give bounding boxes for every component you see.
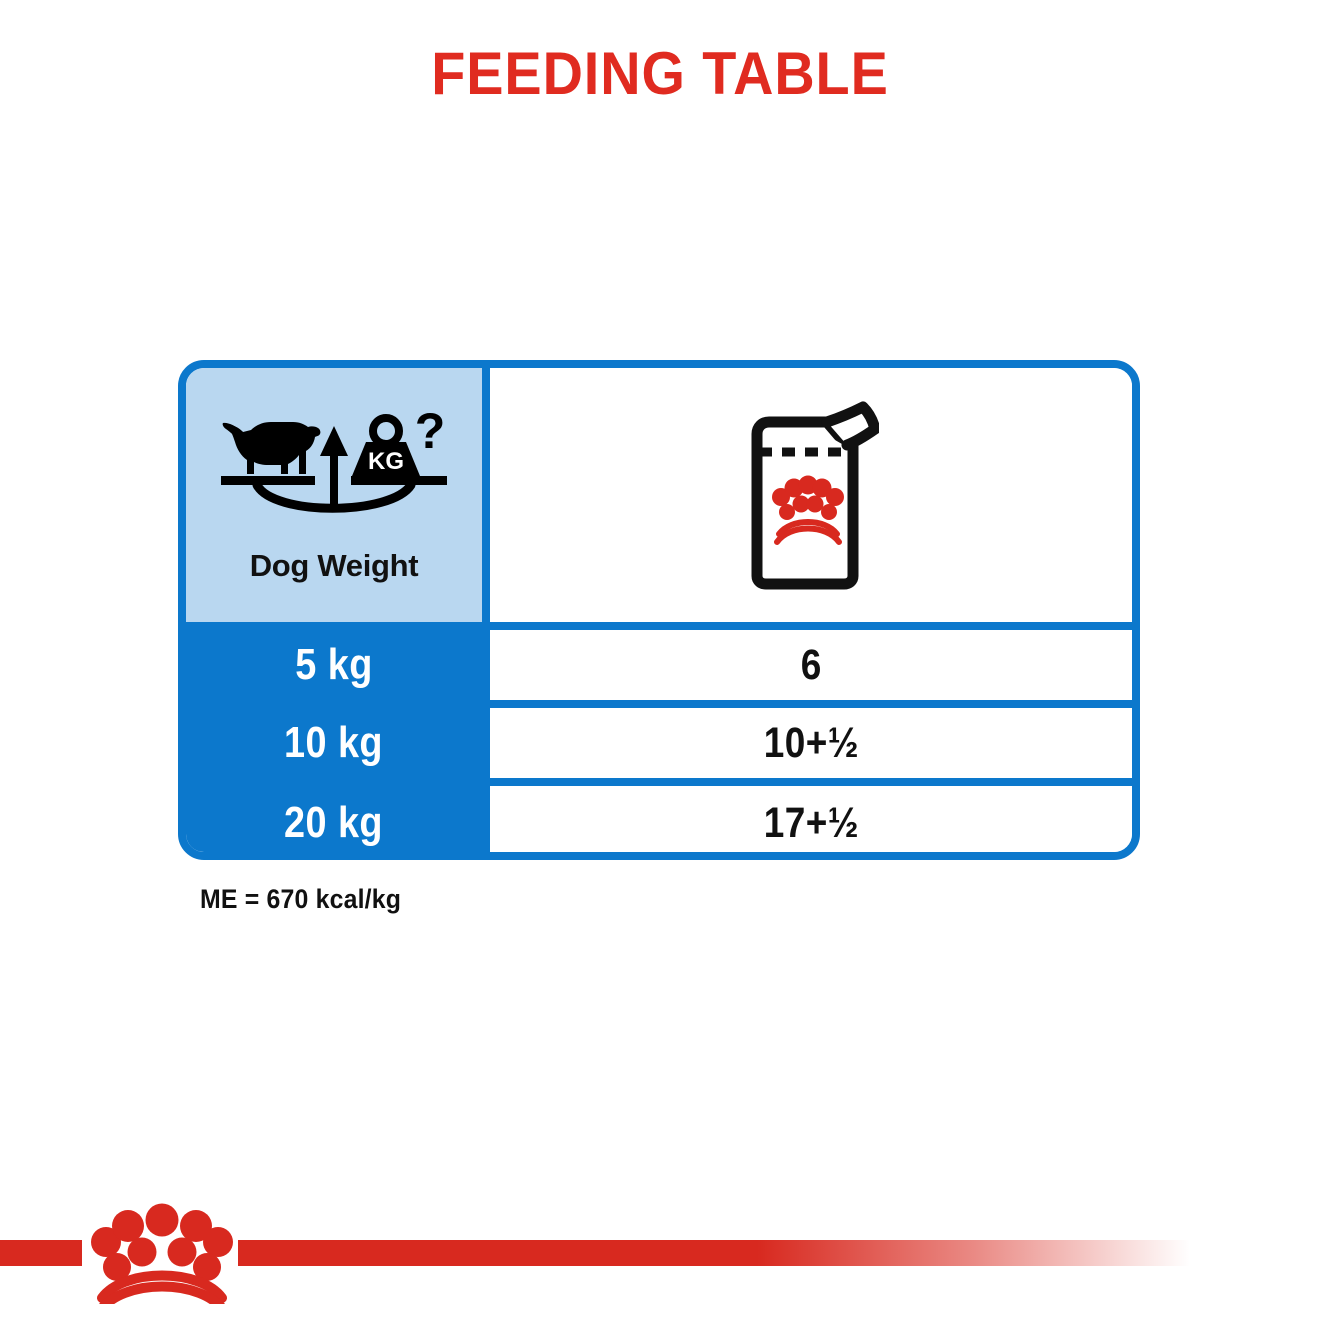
row-weight-label: 10 kg: [285, 721, 384, 765]
row-weight-label: 20 kg: [285, 801, 384, 845]
brand-footer: [0, 1240, 1320, 1266]
row-weight-cell: 5 kg: [186, 630, 482, 700]
row-amount-cell: 17+½: [482, 786, 1132, 860]
brand-bar-right: [238, 1240, 1320, 1266]
table-row: 10 kg 10+½: [186, 700, 1132, 778]
wet-food-pouch-icon: [743, 400, 879, 590]
table-row: 5 kg 6: [186, 622, 1132, 700]
header-cell-dog-weight: KG ? Dog Weight: [186, 368, 482, 622]
royal-canin-crown-logo: [88, 1198, 236, 1304]
row-amount-label: 6: [800, 644, 821, 687]
row-weight-label: 5 kg: [295, 643, 372, 687]
row-weight-cell: 20 kg: [186, 786, 482, 860]
brand-bar-left: [0, 1240, 82, 1266]
metabolisable-energy-note: ME = 670 kcal/kg: [200, 884, 401, 915]
feeding-table-wrapper: KG ? Dog Weight: [178, 360, 1140, 860]
row-amount-label: 17+½: [763, 802, 858, 845]
row-amount-label: 10+½: [763, 722, 858, 765]
feeding-table: KG ? Dog Weight: [178, 360, 1140, 860]
header-label-dog-weight: Dog Weight: [250, 548, 419, 584]
header-cell-product: [482, 368, 1132, 622]
svg-text:?: ?: [415, 412, 446, 459]
dog-balance-scale-kg-icon: KG ?: [221, 412, 447, 528]
row-amount-cell: 10+½: [482, 708, 1132, 778]
row-amount-cell: 6: [482, 630, 1132, 700]
row-weight-cell: 10 kg: [186, 708, 482, 778]
svg-text:KG: KG: [368, 448, 404, 475]
page-title: FEEDING TABLE: [46, 44, 1274, 104]
table-row: 20 kg 17+½: [186, 778, 1132, 860]
table-header-row: KG ? Dog Weight: [186, 368, 1132, 622]
